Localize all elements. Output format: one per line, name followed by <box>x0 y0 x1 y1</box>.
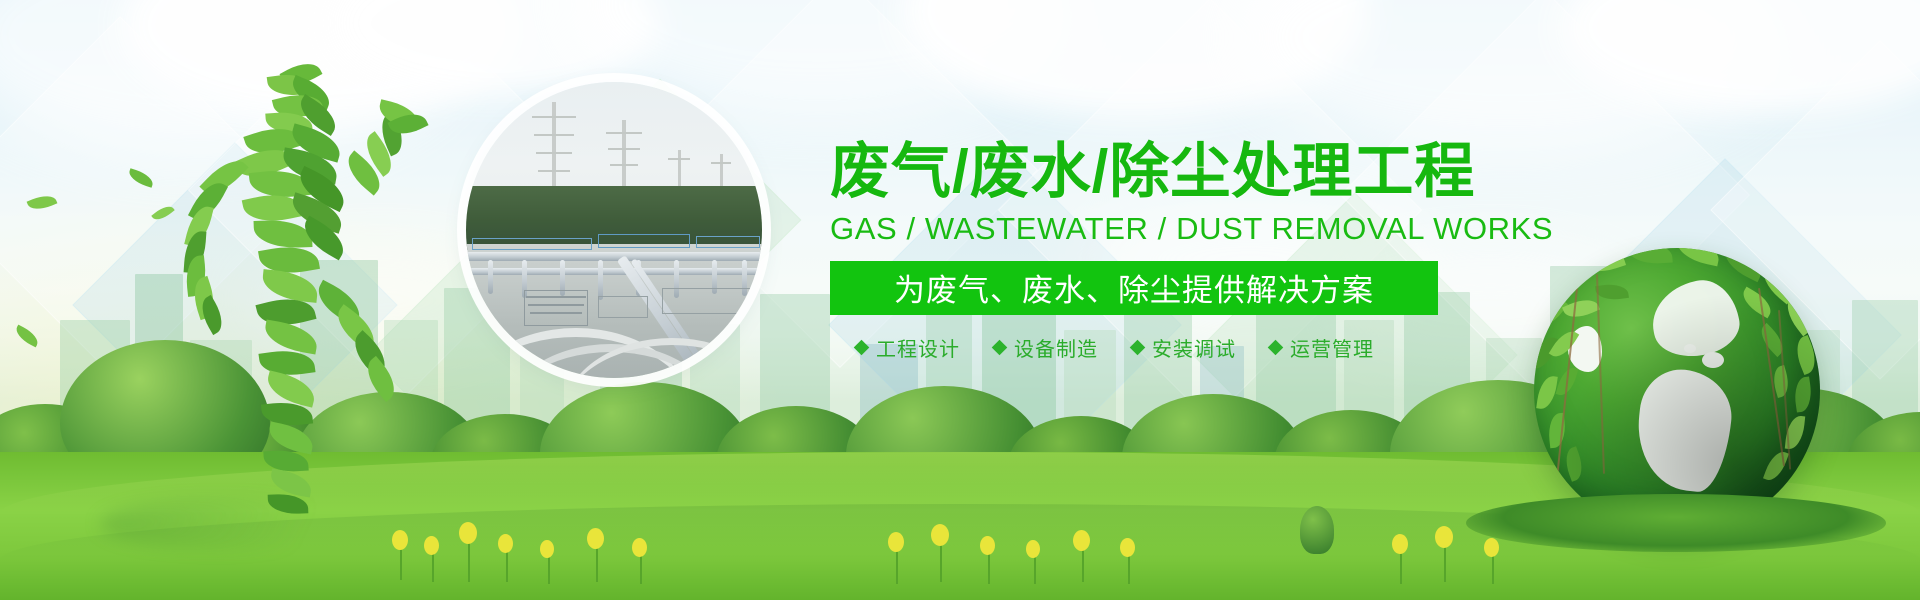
feature-label: 工程设计 <box>876 333 960 362</box>
diamond-bullet-icon <box>992 340 1008 356</box>
diamond-bullet-icon <box>1130 340 1146 356</box>
feature-label: 运营管理 <box>1290 333 1374 362</box>
feature-item-engineering-design: 工程设计 <box>856 333 960 362</box>
feature-item-operation-management: 运营管理 <box>1270 333 1374 362</box>
banner-copy: 废气/废水/除尘处理工程 GAS / WASTEWATER / DUST REM… <box>830 140 1470 362</box>
page-title: 废气/废水/除尘处理工程 <box>830 140 1470 205</box>
feature-item-installation-commissioning: 安装调试 <box>1132 333 1236 362</box>
diamond-bullet-icon <box>854 340 870 356</box>
leaf-litter-base <box>1466 494 1886 552</box>
slogan-text: 为废气、废水、除尘提供解决方案 <box>894 265 1374 310</box>
wastewater-treatment-plant-photo <box>466 82 762 378</box>
eco-engineering-banner: 废气/废水/除尘处理工程 GAS / WASTEWATER / DUST REM… <box>0 0 1920 600</box>
leaf-man-running-figure <box>150 58 450 528</box>
page-subtitle-english: GAS / WASTEWATER / DUST REMOVAL WORKS <box>830 211 1470 247</box>
diamond-bullet-icon <box>1268 340 1284 356</box>
feature-label: 安装调试 <box>1152 333 1236 362</box>
feature-label: 设备制造 <box>1014 333 1098 362</box>
feature-item-equipment-manufacturing: 设备制造 <box>994 333 1098 362</box>
feature-list: 工程设计 设备制造 安装调试 运营管理 <box>830 333 1470 362</box>
green-leaf-globe <box>1534 248 1820 534</box>
slogan-bar: 为废气、废水、除尘提供解决方案 <box>830 261 1438 315</box>
